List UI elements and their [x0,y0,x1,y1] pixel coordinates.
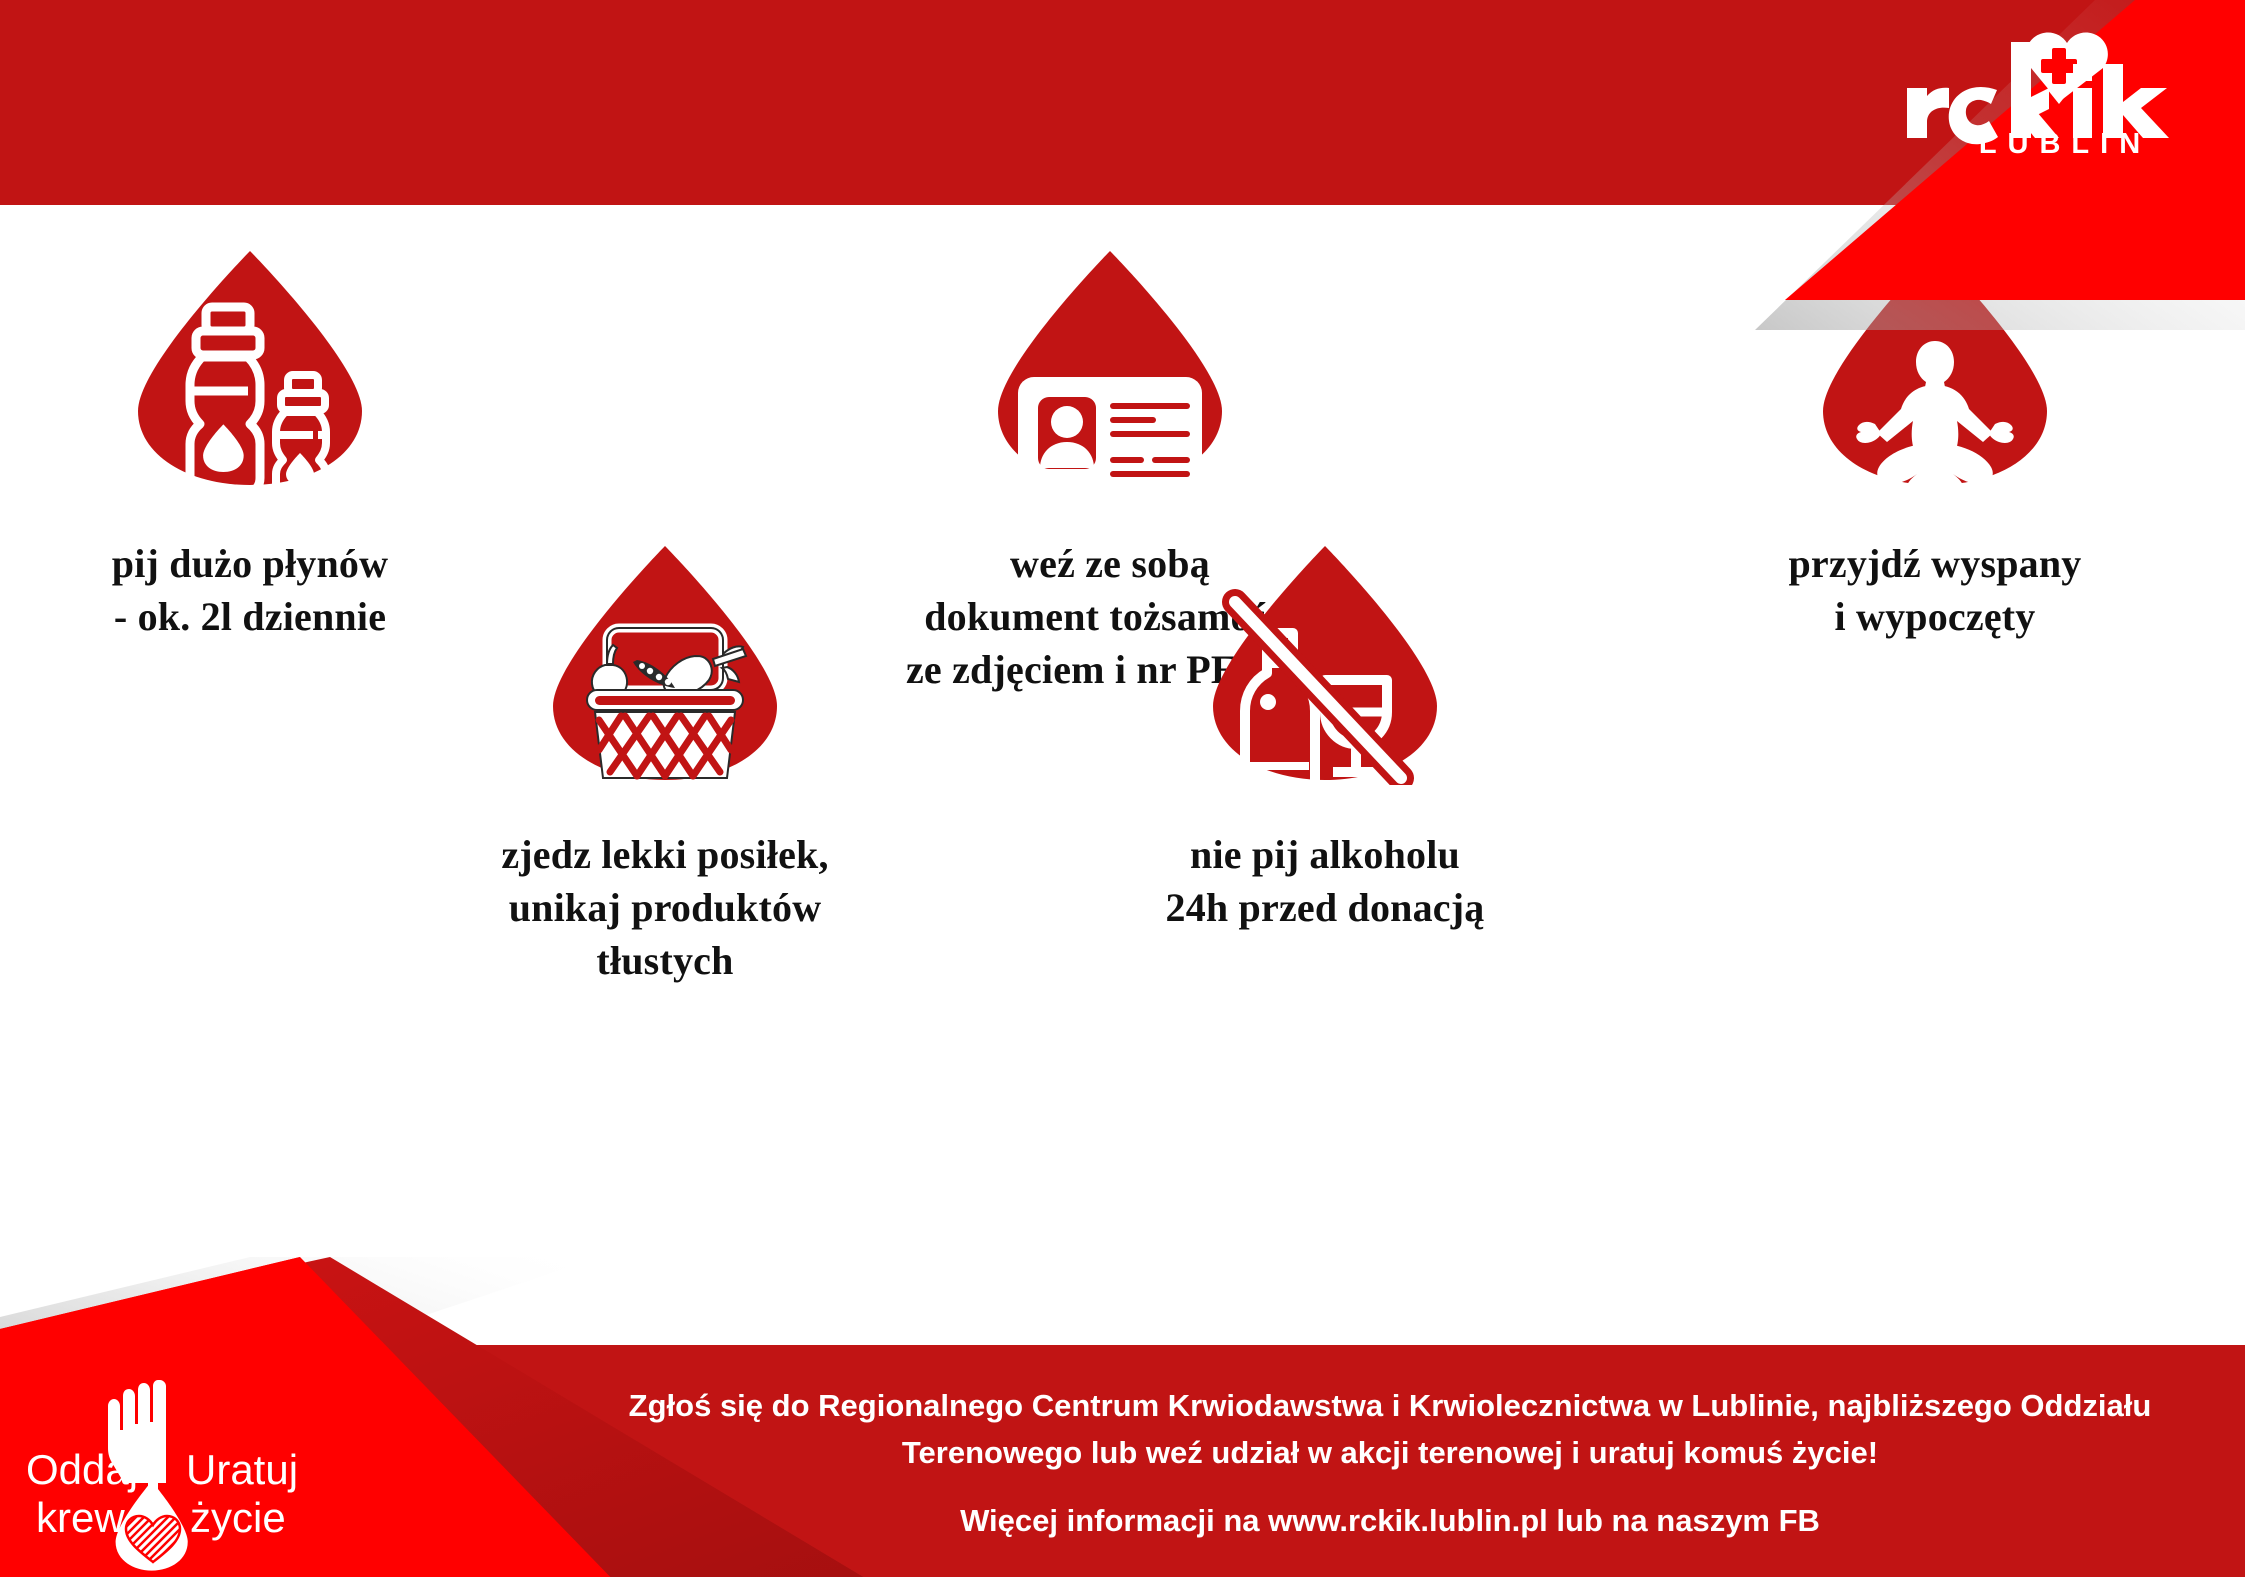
id-card-droplet [990,245,1230,490]
logo-word-uratuj: Uratuj [186,1446,298,1493]
caption-line: 24h przed donacją [1070,882,1580,935]
step-well-rested-caption: przyjdź wyspany i wypoczęty [1700,538,2170,644]
meditation-lotus-icon [1815,245,2055,490]
footer-line-1: Zgłoś się do Regionalnego Centrum Krwiod… [629,1388,1819,1423]
caption-line: unikaj produktów [430,882,900,935]
rckik-logo-subtitle: LUBLIN [1945,128,2185,161]
step-light-meal: zjedz lekki posiłek, unikaj produktów tł… [430,540,900,987]
no-alcohol-droplet [1205,540,1445,785]
step-drink-fluids-caption: pij dużo płynów - ok. 2l dziennie [30,538,470,644]
footer-banner: Zgłoś się do Regionalnego Centrum Krwiod… [0,1345,2245,1587]
heart-with-medical-cross-icon [2026,30,2108,104]
bottom-white-strip [0,1577,2245,1587]
id-card-icon [990,245,1230,490]
caption-line: i wypoczęty [1700,591,2170,644]
footer-spacer [600,1476,2180,1498]
water-bottles-icon [130,245,370,490]
step-drink-fluids: pij dużo płynów - ok. 2l dziennie [30,245,470,644]
water-bottles-droplet [130,245,370,490]
logo-word-oddaj: Oddaj [26,1446,138,1493]
picnic-basket-icon [545,540,785,785]
caption-line: pij dużo płynów [30,538,470,591]
footer-message: Zgłoś się do Regionalnego Centrum Krwiod… [600,1383,2180,1545]
picnic-basket-droplet [545,540,785,785]
step-no-alcohol-caption: nie pij alkoholu 24h przed donacją [1070,829,1580,935]
caption-line: przyjdź wyspany [1700,538,2170,591]
caption-line: tłustych [430,935,900,988]
step-light-meal-caption: zjedz lekki posiłek, unikaj produktów tł… [430,829,900,987]
step-well-rested: przyjdź wyspany i wypoczęty [1700,245,2170,644]
meditation-droplet [1815,245,2055,490]
caption-line: - ok. 2l dziennie [30,591,470,644]
no-alcohol-icon [1205,540,1445,785]
logo-word-krew: krew [36,1494,125,1541]
main-content: pij dużo płynów - ok. 2l dziennie [0,205,2245,1345]
logo-word-zycie: życie [190,1494,286,1541]
caption-line: nie pij alkoholu [1070,829,1580,882]
oddaj-krew-logo: Oddaj krew Uratuj życie [18,1362,328,1577]
step-no-alcohol: nie pij alkoholu 24h przed donacją [1070,540,1580,935]
footer-line-3: Więcej informacji na www.rckik.lublin.pl… [960,1503,1820,1538]
caption-line: zjedz lekki posiłek, [430,829,900,882]
